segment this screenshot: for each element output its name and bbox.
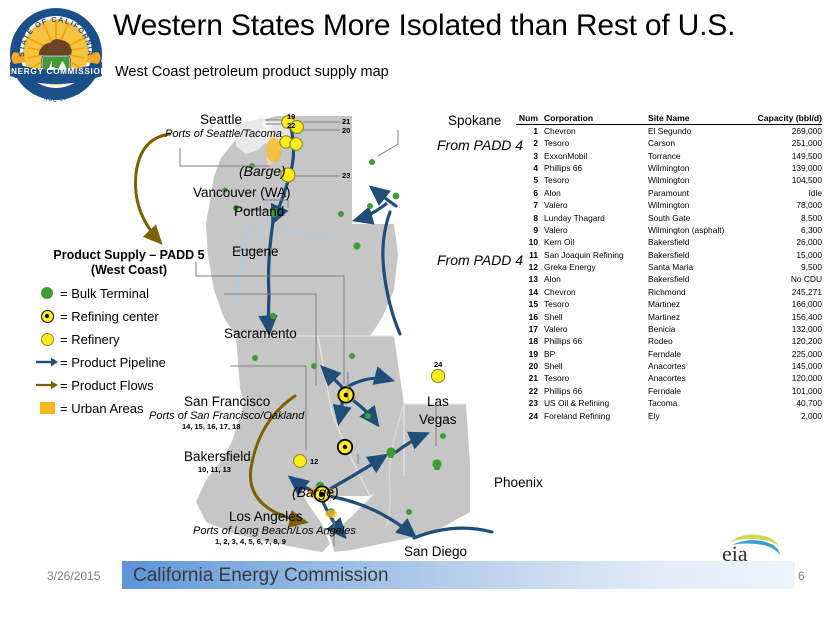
- table-row: 3ExxonMobilTorrance149,500: [516, 150, 822, 162]
- map-callout-22: 22: [287, 121, 295, 130]
- column-header-num: Num: [516, 113, 544, 125]
- table-cell-cap: 139,000: [756, 162, 822, 174]
- table-row: 12Greka EnergySanta Maria9,500: [516, 261, 822, 273]
- table-cell-cap: No CDU: [756, 274, 822, 286]
- map-label-vancouver-wa: Vancouver (WA): [193, 185, 291, 200]
- table-cell-site: Martinez: [648, 298, 756, 310]
- table-cell-site: Santa Maria: [648, 261, 756, 273]
- table-cell-num: 11: [516, 249, 544, 261]
- column-header-corporation: Corporation: [544, 113, 648, 125]
- table-cell-cap: 251,000: [756, 137, 822, 149]
- map-label-barge-north: (Barge): [239, 163, 286, 179]
- table-cell-corp: Valero: [544, 323, 648, 335]
- map-callout-20: 20: [342, 126, 350, 135]
- table-cell-corp: BP: [544, 348, 648, 360]
- table-cell-num: 21: [516, 373, 544, 385]
- table-cell-corp: Valero: [544, 199, 648, 211]
- table-cell-site: Carson: [648, 137, 756, 149]
- map-label-los-angeles-numbers: 1, 2, 3, 4, 5, 6, 7, 8, 9: [215, 537, 286, 546]
- table-row: 19BPFerndale225,000: [516, 348, 822, 360]
- table-row: 6AlonParamountIdle: [516, 187, 822, 199]
- table-cell-site: Wilmington: [648, 162, 756, 174]
- table-body: 1ChevronEl Segundo269,0002TesoroCarson25…: [516, 125, 822, 423]
- map-label-sacramento: Sacramento: [224, 326, 297, 341]
- table-cell-cap: 2,000: [756, 410, 822, 422]
- table-cell-corp: Phillips 66: [544, 335, 648, 347]
- map-callout-21: 21: [342, 117, 350, 126]
- map-label-eugene: Eugene: [232, 244, 279, 259]
- table-cell-cap: 40,700: [756, 397, 822, 409]
- map-label-los-angeles: Los Angeles: [229, 509, 303, 524]
- table-cell-num: 20: [516, 360, 544, 372]
- table-cell-site: Anacortes: [648, 373, 756, 385]
- table-cell-site: Paramount: [648, 187, 756, 199]
- column-header-capacity: Capacity (bbl/d): [756, 113, 822, 125]
- table-cell-corp: Tesoro: [544, 298, 648, 310]
- table-row: 9ValeroWilmington (asphalt)6,300: [516, 224, 822, 236]
- table-cell-num: 8: [516, 212, 544, 224]
- page-title: Western States More Isolated than Rest o…: [113, 4, 828, 48]
- table-cell-num: 4: [516, 162, 544, 174]
- table-cell-cap: 6,300: [756, 224, 822, 236]
- table-row: 21TesoroAnacortes120,000: [516, 373, 822, 385]
- table-cell-cap: 269,000: [756, 125, 822, 138]
- map-label-san-francisco: San Francisco: [184, 394, 270, 409]
- west-coast-petroleum-supply-map: Seattle Ports of Seattle/Tacoma (Barge) …: [0, 104, 520, 564]
- table-row: 23US Oil & RefiningTacoma40,700: [516, 397, 822, 409]
- table-cell-cap: 225,000: [756, 348, 822, 360]
- table-row: 11San Joaquin RefiningBakersfield15,000: [516, 249, 822, 261]
- logo-band-text: ENERGY COMMISSION: [6, 67, 106, 76]
- footer-page-number: 6: [798, 569, 805, 583]
- table-cell-corp: Alon: [544, 187, 648, 199]
- table-cell-corp: Lunday Thagard: [544, 212, 648, 224]
- map-label-spokane: Spokane: [448, 113, 501, 128]
- table-cell-num: 24: [516, 410, 544, 422]
- footer-date: 3/26/2015: [47, 569, 100, 583]
- table-cell-corp: Greka Energy: [544, 261, 648, 273]
- map-label-portland: Portland: [234, 204, 284, 219]
- table-cell-cap: 245,271: [756, 286, 822, 298]
- table-cell-num: 22: [516, 385, 544, 397]
- table-row: 10Kern OilBakersfield26,000: [516, 236, 822, 248]
- map-landmass-oregon-idaho: [206, 224, 398, 336]
- table-cell-num: 6: [516, 187, 544, 199]
- table-row: 20ShellAnacortes145,000: [516, 360, 822, 372]
- table-cell-site: Martinez: [648, 311, 756, 323]
- column-header-site-name: Site Name: [648, 113, 756, 125]
- table-cell-cap: 149,500: [756, 150, 822, 162]
- map-label-las-vegas-line1: Las: [427, 394, 449, 409]
- table-cell-corp: Phillips 66: [544, 385, 648, 397]
- map-label-san-francisco-ports: Ports of San Francisco/Oakland: [149, 410, 304, 422]
- map-label-barge-south: (Barge): [292, 484, 339, 500]
- table-cell-corp: Tesoro: [544, 373, 648, 385]
- table-cell-corp: Chevron: [544, 125, 648, 138]
- table-cell-site: Ely: [648, 410, 756, 422]
- table-cell-cap: 26,000: [756, 236, 822, 248]
- table-row: 17ValeroBenicia132,000: [516, 323, 822, 335]
- table-cell-cap: 120,200: [756, 335, 822, 347]
- table-cell-site: Ferndale: [648, 385, 756, 397]
- table-cell-site: Bakersfield: [648, 274, 756, 286]
- map-label-las-vegas-line2: Vegas: [419, 412, 457, 427]
- table-row: 5TesoroWilmington104,500: [516, 175, 822, 187]
- table-row: 24Foreland RefiningEly2,000: [516, 410, 822, 422]
- table-cell-cap: 9,500: [756, 261, 822, 273]
- table-cell-num: 7: [516, 199, 544, 211]
- table-cell-site: South Gate: [648, 212, 756, 224]
- table-row: 1ChevronEl Segundo269,000: [516, 125, 822, 138]
- map-callout-24: 24: [434, 360, 442, 369]
- table-cell-corp: Tesoro: [544, 137, 648, 149]
- table-cell-site: Tacoma: [648, 397, 756, 409]
- table-cell-corp: Foreland Refining: [544, 410, 648, 422]
- table-cell-num: 19: [516, 348, 544, 360]
- table-cell-corp: ExxonMobil: [544, 150, 648, 162]
- table-cell-num: 3: [516, 150, 544, 162]
- table-row: 15TesoroMartinez166,000: [516, 298, 822, 310]
- table-row: 2TesoroCarson251,000: [516, 137, 822, 149]
- table-header-row: Num Corporation Site Name Capacity (bbl/…: [516, 113, 822, 125]
- map-label-seattle-ports: Ports of Seattle/Tacoma: [165, 128, 282, 140]
- table-cell-num: 14: [516, 286, 544, 298]
- table-row: 22Phillips 66Ferndale101,000: [516, 385, 822, 397]
- table-cell-corp: Alon: [544, 274, 648, 286]
- refinery-capacity-table: Num Corporation Site Name Capacity (bbl/…: [516, 113, 822, 422]
- table-cell-cap: 101,000: [756, 385, 822, 397]
- table-cell-corp: Phillips 66: [544, 162, 648, 174]
- table-cell-cap: 104,500: [756, 175, 822, 187]
- map-label-san-francisco-numbers: 14, 15, 16, 17, 18: [182, 422, 240, 431]
- table-row: 16ShellMartinez156,400: [516, 311, 822, 323]
- table-cell-num: 2: [516, 137, 544, 149]
- map-label-los-angeles-ports: Ports of Long Beach/Los Angeles: [193, 525, 356, 537]
- table-cell-num: 1: [516, 125, 544, 138]
- california-energy-commission-logo: ENERGY COMMISSION STATE OF CALIFORNIA SI…: [6, 4, 106, 104]
- table-cell-corp: Tesoro: [544, 175, 648, 187]
- map-callout-19: 19: [287, 112, 295, 121]
- table-cell-corp: San Joaquin Refining: [544, 249, 648, 261]
- table-cell-site: Bakersfield: [648, 249, 756, 261]
- map-label-bakersfield: Bakersfield: [184, 449, 251, 464]
- table-cell-num: 17: [516, 323, 544, 335]
- table-cell-cap: 120,000: [756, 373, 822, 385]
- map-label-from-padd4-mid: From PADD 4: [437, 252, 523, 268]
- table-cell-site: El Segundo: [648, 125, 756, 138]
- table-cell-site: Wilmington: [648, 199, 756, 211]
- table-row: 8Lunday ThagardSouth Gate8,500: [516, 212, 822, 224]
- table-cell-site: Richmond: [648, 286, 756, 298]
- table-cell-corp: Valero: [544, 224, 648, 236]
- table-cell-site: Anacortes: [648, 360, 756, 372]
- map-callout-23: 23: [342, 171, 350, 180]
- table-cell-num: 9: [516, 224, 544, 236]
- table-cell-site: Benicia: [648, 323, 756, 335]
- table-cell-site: Ferndale: [648, 348, 756, 360]
- table-cell-site: Wilmington: [648, 175, 756, 187]
- table-cell-num: 13: [516, 274, 544, 286]
- table-cell-num: 16: [516, 311, 544, 323]
- map-label-from-padd4-north: From PADD 4: [437, 137, 523, 153]
- table-cell-cap: 166,000: [756, 298, 822, 310]
- table-row: 14ChevronRichmond245,271: [516, 286, 822, 298]
- table-cell-site: Bakersfield: [648, 236, 756, 248]
- table-cell-num: 12: [516, 261, 544, 273]
- table-row: 7ValeroWilmington78,000: [516, 199, 822, 211]
- table-cell-corp: Kern Oil: [544, 236, 648, 248]
- table-row: 4Phillips 66Wilmington139,000: [516, 162, 822, 174]
- table-cell-site: Wilmington (asphalt): [648, 224, 756, 236]
- table-cell-site: Torrance: [648, 150, 756, 162]
- table-row: 18Phillips 66Rodeo120,200: [516, 335, 822, 347]
- map-label-bakersfield-numbers: 10, 11, 13: [198, 465, 231, 474]
- table-cell-num: 10: [516, 236, 544, 248]
- table-cell-num: 18: [516, 335, 544, 347]
- table-cell-cap: Idle: [756, 187, 822, 199]
- map-callout-12: 12: [310, 457, 318, 466]
- table-cell-cap: 145,000: [756, 360, 822, 372]
- table-cell-cap: 132,000: [756, 323, 822, 335]
- map-label-san-diego: San Diego: [404, 544, 467, 559]
- table-cell-corp: Shell: [544, 360, 648, 372]
- table-cell-corp: Chevron: [544, 286, 648, 298]
- table-cell-cap: 15,000: [756, 249, 822, 261]
- table-cell-corp: US Oil & Refining: [544, 397, 648, 409]
- page-subtitle: West Coast petroleum product supply map: [115, 64, 389, 80]
- table-cell-num: 15: [516, 298, 544, 310]
- footer-organization: California Energy Commission: [133, 565, 389, 587]
- slide-canvas: ENERGY COMMISSION STATE OF CALIFORNIA SI…: [0, 0, 830, 622]
- map-label-seattle: Seattle: [200, 112, 242, 127]
- table-cell-corp: Shell: [544, 311, 648, 323]
- table-cell-site: Rodeo: [648, 335, 756, 347]
- table-cell-cap: 8,500: [756, 212, 822, 224]
- table-cell-num: 5: [516, 175, 544, 187]
- table-cell-cap: 156,400: [756, 311, 822, 323]
- table-cell-cap: 78,000: [756, 199, 822, 211]
- map-label-phoenix: Phoenix: [494, 475, 543, 490]
- table-cell-num: 23: [516, 397, 544, 409]
- table-row: 13AlonBakersfieldNo CDU: [516, 274, 822, 286]
